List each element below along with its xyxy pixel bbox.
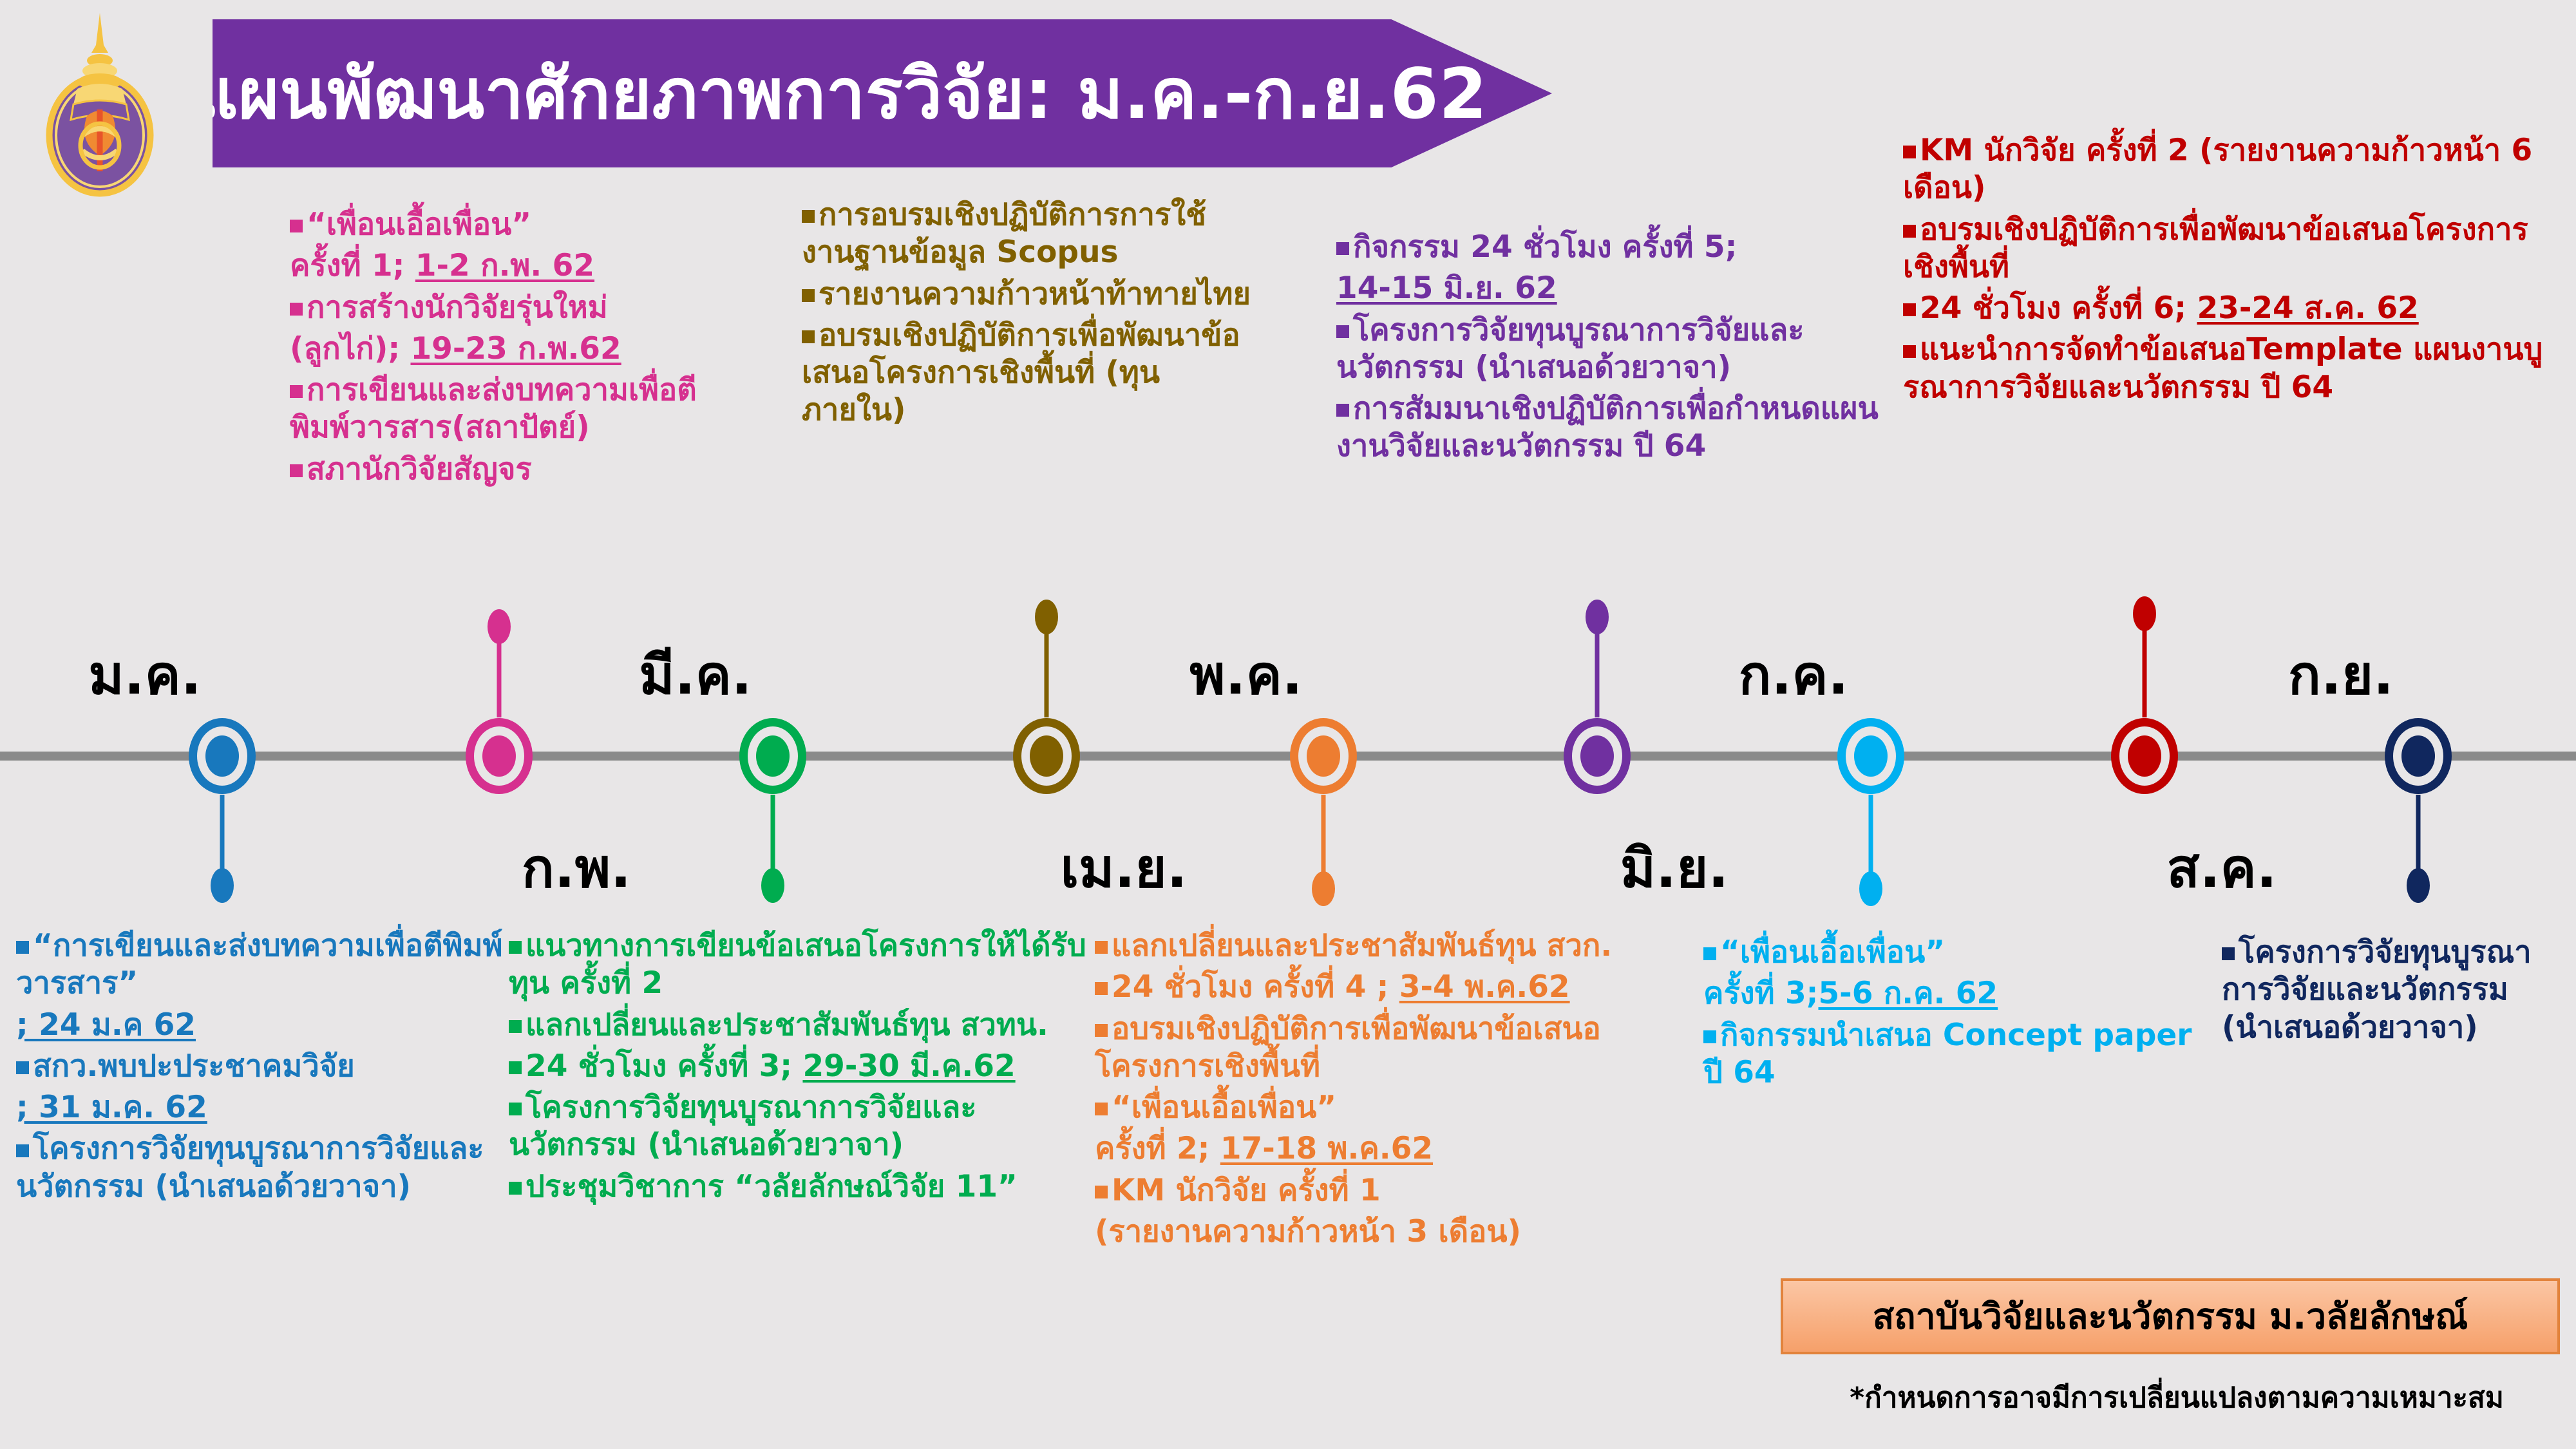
event-item: ครั้งที่ 3;5-6 ก.ค. 62: [1703, 975, 2193, 1012]
square-bullet-icon: [1095, 1103, 1108, 1115]
square-bullet-icon: [1336, 404, 1349, 417]
event-item: “เพื่อนเอื้อเพื่อน”: [290, 206, 741, 243]
marker-stem-sep: [2416, 795, 2421, 872]
event-item: กิจกรรม 24 ชั่วโมง ครั้งที่ 5;: [1336, 229, 1916, 266]
event-text: (รายงานความก้าวหน้า 3 เดือน): [1095, 1214, 1521, 1249]
square-bullet-icon: [16, 1144, 29, 1157]
event-text: ประชุมวิชาการ “วลัยลักษณ์วิจัย 11”: [526, 1169, 1018, 1204]
event-text: ครั้งที่ 2; 17-18 พ.ค.62: [1095, 1131, 1433, 1166]
event-date: 3-4 พ.ค.62: [1399, 969, 1570, 1005]
square-bullet-icon: [290, 464, 303, 477]
square-bullet-icon: [802, 330, 815, 343]
event-text: อบรมเชิงปฏิบัติการเพื่อพัฒนาข้อเสนอโครงก…: [1903, 212, 2528, 285]
event-item: 14-15 มิ.ย. 62: [1336, 270, 1916, 307]
event-text: โครงการวิจัยทุนบูรณาการวิจัยและนวัตกรรม …: [509, 1090, 977, 1162]
event-item: แลกเปลี่ยนและประชาสัมพันธ์ทุน สวทน.: [509, 1007, 1088, 1044]
event-text: การสร้างนักวิจัยรุ่นใหม่: [307, 290, 608, 325]
event-item: กิจกรรมนำเสนอ Concept paper ปี 64: [1703, 1017, 2193, 1092]
timeline-marker-sep[interactable]: [2380, 717, 2457, 795]
event-item: โครงการวิจัยทุนบูรณาการวิจัยและนวัตกรรม …: [2222, 934, 2570, 1046]
event-item: ครั้งที่ 2; 17-18 พ.ค.62: [1095, 1130, 1662, 1168]
events-block-aug: KM นักวิจัย ครั้งที่ 2 (รายงานความก้าวหน…: [1903, 132, 2553, 410]
event-text: อบรมเชิงปฏิบัติการเพื่อพัฒนาข้อเสนอโครงก…: [802, 317, 1240, 428]
events-block-jun: กิจกรรม 24 ชั่วโมง ครั้งที่ 5;14-15 มิ.ย…: [1336, 229, 1916, 469]
square-bullet-icon: [1703, 947, 1716, 960]
event-text: อบรมเชิงปฏิบัติการเพื่อพัฒนาข้อเสนอโครงก…: [1095, 1011, 1601, 1084]
marker-core-icon: [1580, 735, 1614, 777]
square-bullet-icon: [1903, 146, 1916, 158]
events-block-mar: แนวทางการเขียนข้อเสนอโครงการให้ได้รับทุน…: [509, 927, 1088, 1209]
marker-stem-mar: [771, 795, 775, 872]
event-item: การอบรมเชิงปฏิบัติการการใช้งานฐานข้อมูล …: [802, 196, 1253, 272]
timeline-marker-jan[interactable]: [184, 717, 261, 795]
event-item: ครั้งที่ 1; 1-2 ก.พ. 62: [290, 247, 741, 285]
timeline-marker-jul[interactable]: [1832, 717, 1909, 795]
month-label-sep: ก.ย.: [2288, 631, 2394, 717]
square-bullet-icon: [1095, 1024, 1108, 1037]
event-date: 19-23 ก.พ.62: [410, 331, 621, 366]
event-text: 14-15 มิ.ย. 62: [1336, 270, 1557, 306]
square-bullet-icon: [802, 210, 815, 223]
marker-stem-dot-mar: [761, 868, 784, 903]
event-item: (รายงานความก้าวหน้า 3 เดือน): [1095, 1213, 1662, 1251]
marker-core-icon: [1307, 735, 1340, 777]
square-bullet-icon: [509, 941, 522, 954]
square-bullet-icon: [1336, 325, 1349, 338]
square-bullet-icon: [290, 385, 303, 398]
marker-core-icon: [1030, 735, 1063, 777]
event-item: แนวทางการเขียนข้อเสนอโครงการให้ได้รับทุน…: [509, 927, 1088, 1003]
event-item: อบรมเชิงปฏิบัติการเพื่อพัฒนาข้อเสนอโครงก…: [802, 317, 1253, 430]
square-bullet-icon: [1336, 242, 1349, 255]
event-text: กิจกรรม 24 ชั่วโมง ครั้งที่ 5;: [1353, 229, 1737, 265]
event-item: ประชุมวิชาการ “วลัยลักษณ์วิจัย 11”: [509, 1168, 1088, 1206]
event-item: โครงการวิจัยทุนบูรณาการวิจัยและนวัตกรรม …: [16, 1130, 525, 1206]
event-text: ครั้งที่ 3;5-6 ก.ค. 62: [1703, 976, 1998, 1011]
marker-stem-dot-jul: [1859, 871, 1882, 906]
marker-core-icon: [1854, 735, 1888, 777]
event-text: “เพื่อนเอื้อเพื่อน”: [307, 207, 531, 242]
event-text: การอบรมเชิงปฏิบัติการการใช้งานฐานข้อมูล …: [802, 197, 1206, 270]
marker-stem-dot-feb: [488, 609, 511, 644]
month-label-may: พ.ค.: [1189, 631, 1302, 717]
event-item: (ลูกไก่); 19-23 ก.พ.62: [290, 330, 741, 368]
event-item: รายงานความก้าวหน้าท้าทายไทย: [802, 276, 1253, 313]
event-item: โครงการวิจัยทุนบูรณาการวิจัยและนวัตกรรม …: [509, 1089, 1088, 1164]
month-label-jan: ม.ค.: [88, 631, 201, 717]
event-item: แนะนำการจัดทำข้อเสนอTemplate แผนงานบูรณา…: [1903, 331, 2553, 406]
event-text: “เพื่อนเอื้อเพื่อน”: [1720, 934, 1945, 970]
event-text: แลกเปลี่ยนและประชาสัมพันธ์ทุน สวทน.: [526, 1007, 1048, 1043]
event-text: ; 31 ม.ค. 62: [16, 1090, 207, 1125]
event-item: ; 24 ม.ค 62: [16, 1007, 525, 1044]
square-bullet-icon: [16, 1061, 29, 1074]
timeline-marker-aug[interactable]: [2106, 717, 2183, 795]
event-text: สภานักวิจัยสัญจร: [307, 451, 532, 487]
walailak-university-crest-icon: [26, 6, 174, 200]
event-item: อบรมเชิงปฏิบัติการเพื่อพัฒนาข้อเสนอโครงก…: [1903, 211, 2553, 287]
event-item: KM นักวิจัย ครั้งที่ 2 (รายงานความก้าวหน…: [1903, 132, 2553, 207]
event-text: KM นักวิจัย ครั้งที่ 1: [1112, 1173, 1381, 1208]
square-bullet-icon: [1095, 982, 1108, 995]
events-block-jul: “เพื่อนเอื้อเพื่อน”ครั้งที่ 3;5-6 ก.ค. 6…: [1703, 934, 2193, 1095]
month-label-feb: ก.พ.: [522, 824, 631, 911]
event-date: 29-30 มี.ค.62: [802, 1048, 1015, 1084]
marker-stem-feb: [497, 640, 502, 717]
marker-stem-apr: [1045, 630, 1049, 717]
events-block-feb: “เพื่อนเอื้อเพื่อน”ครั้งที่ 1; 1-2 ก.พ. …: [290, 206, 741, 492]
month-label-jul: ก.ค.: [1739, 631, 1849, 717]
event-text: แนวทางการเขียนข้อเสนอโครงการให้ได้รับทุน…: [509, 928, 1086, 1001]
event-date: 17-18 พ.ค.62: [1220, 1131, 1433, 1166]
event-text: ครั้งที่ 1; 1-2 ก.พ. 62: [290, 248, 594, 283]
event-text: KM นักวิจัย ครั้งที่ 2 (รายงานความก้าวหน…: [1903, 133, 2532, 205]
month-label-apr: เม.ย.: [1060, 824, 1187, 911]
square-bullet-icon: [509, 1182, 522, 1195]
event-item: 24 ชั่วโมง ครั้งที่ 4 ; 3-4 พ.ค.62: [1095, 969, 1662, 1006]
event-item: 24 ชั่วโมง ครั้งที่ 3; 29-30 มี.ค.62: [509, 1048, 1088, 1085]
event-text: สกว.พบปะประชาคมวิจัย: [33, 1048, 355, 1084]
event-text: “การเขียนและส่งบทความเพื่อตีพิมพ์วารสาร”: [16, 928, 503, 1001]
timeline-marker-jun[interactable]: [1558, 717, 1636, 795]
events-block-sep: โครงการวิจัยทุนบูรณาการวิจัยและนวัตกรรม …: [2222, 934, 2570, 1050]
institute-badge: สถาบันวิจัยและนวัตกรรม ม.วลัยลักษณ์: [1781, 1278, 2560, 1354]
event-text: โครงการวิจัยทุนบูรณาการวิจัยและนวัตกรรม …: [1336, 312, 1804, 385]
event-text: (ลูกไก่); 19-23 ก.พ.62: [290, 331, 621, 366]
timeline-marker-may[interactable]: [1285, 717, 1362, 795]
timeline-marker-mar[interactable]: [734, 717, 811, 795]
event-date: 5-6 ก.ค. 62: [1818, 976, 1998, 1011]
event-text: แลกเปลี่ยนและประชาสัมพันธ์ทุน สวก.: [1112, 928, 1612, 963]
event-text: โครงการวิจัยทุนบูรณาการวิจัยและนวัตกรรม …: [16, 1131, 484, 1204]
event-item: แลกเปลี่ยนและประชาสัมพันธ์ทุน สวก.: [1095, 927, 1662, 965]
infographic-canvas: แผนพัฒนาศักยภาพการวิจัย: ม.ค.-ก.ย.62 ม.ค…: [0, 0, 2576, 1449]
event-text: แนะนำการจัดทำข้อเสนอTemplate แผนงานบูรณา…: [1903, 332, 2543, 404]
event-text: 24 ชั่วโมง ครั้งที่ 4 ; 3-4 พ.ค.62: [1112, 969, 1570, 1005]
event-item: สกว.พบปะประชาคมวิจัย: [16, 1048, 525, 1085]
marker-stem-jan: [220, 795, 225, 872]
event-item: โครงการวิจัยทุนบูรณาการวิจัยและนวัตกรรม …: [1336, 312, 1916, 387]
marker-stem-dot-sep: [2407, 868, 2430, 903]
event-date: 23-24 ส.ค. 62: [2197, 290, 2418, 326]
page-title: แผนพัฒนาศักยภาพการวิจัย: ม.ค.-ก.ย.62: [193, 38, 1571, 149]
marker-core-icon: [205, 735, 239, 777]
square-bullet-icon: [1095, 1186, 1108, 1198]
marker-stem-aug: [2143, 627, 2147, 717]
event-item: ; 31 ม.ค. 62: [16, 1089, 525, 1126]
event-item: การเขียนและส่งบทความเพื่อตีพิมพ์วารสาร(ส…: [290, 372, 741, 447]
marker-stem-dot-apr: [1035, 600, 1058, 634]
marker-core-icon: [2128, 735, 2161, 777]
events-block-jan: “การเขียนและส่งบทความเพื่อตีพิมพ์วารสาร”…: [16, 927, 525, 1209]
event-item: “เพื่อนเอื้อเพื่อน”: [1703, 934, 2193, 971]
marker-stem-dot-jun: [1586, 600, 1609, 634]
event-text: 24 ชั่วโมง ครั้งที่ 6; 23-24 ส.ค. 62: [1920, 290, 2419, 326]
marker-stem-may: [1321, 795, 1326, 875]
events-block-may: แลกเปลี่ยนและประชาสัมพันธ์ทุน สวก.24 ชั่…: [1095, 927, 1662, 1255]
square-bullet-icon: [16, 941, 29, 954]
square-bullet-icon: [1095, 941, 1108, 954]
square-bullet-icon: [509, 1103, 522, 1115]
marker-stem-dot-may: [1312, 871, 1335, 906]
event-text: รายงานความก้าวหน้าท้าทายไทย: [819, 276, 1251, 312]
square-bullet-icon: [1903, 345, 1916, 358]
page-title-banner: แผนพัฒนาศักยภาพการวิจัย: ม.ค.-ก.ย.62: [213, 19, 1552, 167]
square-bullet-icon: [1703, 1030, 1716, 1043]
marker-stem-jun: [1595, 630, 1600, 717]
marker-stem-dot-jan: [211, 868, 234, 903]
marker-core-icon: [2401, 735, 2435, 777]
square-bullet-icon: [2222, 947, 2235, 960]
marker-core-icon: [482, 735, 516, 777]
event-item: การสัมมนาเชิงปฏิบัติการเพื่อกำหนดแผนงานว…: [1336, 390, 1916, 466]
event-text: กิจกรรมนำเสนอ Concept paper ปี 64: [1703, 1018, 2192, 1090]
square-bullet-icon: [802, 289, 815, 302]
marker-core-icon: [756, 735, 790, 777]
marker-stem-dot-aug: [2133, 596, 2156, 631]
event-text: “เพื่อนเอื้อเพื่อน”: [1112, 1090, 1336, 1125]
event-item: 24 ชั่วโมง ครั้งที่ 6; 23-24 ส.ค. 62: [1903, 290, 2553, 327]
square-bullet-icon: [509, 1020, 522, 1033]
event-text: การสัมมนาเชิงปฏิบัติการเพื่อกำหนดแผนงานว…: [1336, 391, 1879, 464]
institute-name: สถาบันวิจัยและนวัตกรรม ม.วลัยลักษณ์: [1873, 1289, 2468, 1345]
timeline-marker-apr[interactable]: [1008, 717, 1085, 795]
event-text: โครงการวิจัยทุนบูรณาการวิจัยและนวัตกรรม …: [2222, 934, 2532, 1045]
event-item: สภานักวิจัยสัญจร: [290, 451, 741, 488]
square-bullet-icon: [509, 1061, 522, 1074]
event-text: การเขียนและส่งบทความเพื่อตีพิมพ์วารสาร(ส…: [290, 372, 697, 445]
event-date: 1-2 ก.พ. 62: [415, 248, 594, 283]
marker-stem-jul: [1869, 795, 1873, 875]
event-text: ; 24 ม.ค 62: [16, 1007, 196, 1043]
month-label-aug: ส.ค.: [2166, 824, 2277, 911]
event-item: อบรมเชิงปฏิบัติการเพื่อพัฒนาข้อเสนอโครงก…: [1095, 1010, 1662, 1086]
square-bullet-icon: [1903, 225, 1916, 238]
timeline-marker-feb[interactable]: [460, 717, 538, 795]
disclaimer-note: *กำหนดการอาจมีการเปลี่ยนแปลงตามความเหมาะ…: [1797, 1375, 2557, 1420]
event-item: “เพื่อนเอื้อเพื่อน”: [1095, 1089, 1662, 1126]
month-label-jun: มิ.ย.: [1620, 824, 1728, 911]
event-item: “การเขียนและส่งบทความเพื่อตีพิมพ์วารสาร”: [16, 927, 525, 1003]
event-item: การสร้างนักวิจัยรุ่นใหม่: [290, 289, 741, 327]
square-bullet-icon: [1903, 303, 1916, 316]
event-item: KM นักวิจัย ครั้งที่ 1: [1095, 1172, 1662, 1209]
square-bullet-icon: [290, 220, 303, 232]
events-block-apr: การอบรมเชิงปฏิบัติการการใช้งานฐานข้อมูล …: [802, 196, 1253, 433]
event-text: 24 ชั่วโมง ครั้งที่ 3; 29-30 มี.ค.62: [526, 1048, 1016, 1084]
month-label-mar: มี.ค.: [639, 631, 752, 717]
square-bullet-icon: [290, 303, 303, 316]
